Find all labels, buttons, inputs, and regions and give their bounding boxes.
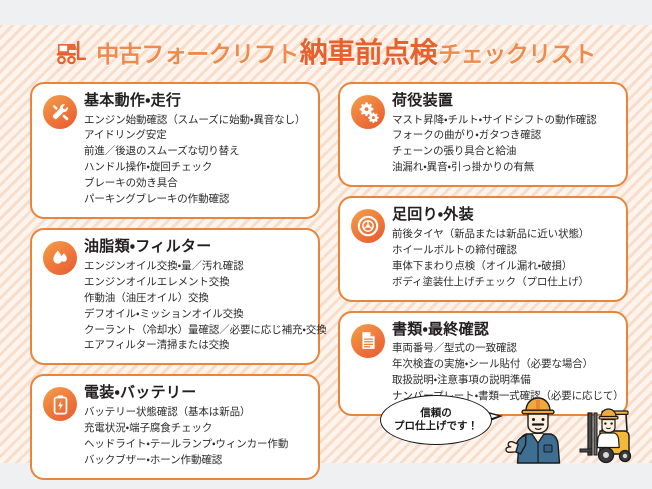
list-item: クーラント（冷却水）量確認／必要に応じ補充・交換 xyxy=(84,323,308,339)
list-item: アイドリング安定 xyxy=(84,128,308,144)
card-undercarriage-body: 足回り・外装 前後タイヤ（新品または新品に近い状態） ホイールボルトの締付確認 … xyxy=(338,196,628,301)
list-item: 車両番号／型式の一致確認 xyxy=(392,341,616,357)
card-body: 荷役装置 マスト昇降・チルト・サイドシフトの動作確認 フォークの曲がり・ガタつき… xyxy=(392,93,616,176)
page-title: 中古フォークリフト 納車前点検 チェックリスト xyxy=(96,39,596,67)
list-item: 充電状況・端子腐食チェック xyxy=(84,421,308,437)
card-title: 足回り・外装 xyxy=(392,207,616,224)
worker-thumbsup-icon xyxy=(506,398,560,463)
list-item: 前後タイヤ（新品または新品に近い状態） xyxy=(392,227,616,243)
battery-icon xyxy=(43,387,77,421)
list-item: エンジン始動確認（スムーズに始動・異音なし） xyxy=(84,113,308,129)
list-item: 前進／後退のスムーズな切り替え xyxy=(84,144,308,160)
list-item: デフオイル・ミッションオイル交換 xyxy=(84,307,308,323)
list-item: エアフィルター清掃または交換 xyxy=(84,338,308,354)
card-item-list: エンジン始動確認（スムーズに始動・異音なし） アイドリング安定 前進／後退のスム… xyxy=(84,113,308,209)
document-icon xyxy=(351,324,385,358)
card-item-list: バッテリー状態確認（基本は新品） 充電状況・端子腐食チェック ヘッドライト・テー… xyxy=(84,405,308,469)
list-item: 取扱説明・注意事項の説明準備 xyxy=(392,373,616,389)
card-item-list: 前後タイヤ（新品または新品に近い状態） ホイールボルトの締付確認 車体下まわり点… xyxy=(392,227,616,291)
wrench-screwdriver-icon xyxy=(43,95,77,129)
tire-wheel-icon xyxy=(351,209,385,243)
list-item: 油漏れ・異音・引っ掛かりの有無 xyxy=(392,160,616,176)
speech-bubble-line2: プロ仕上げです！ xyxy=(394,420,478,433)
speech-bubble: 信頼の プロ仕上げです！ xyxy=(380,395,492,445)
list-item: パーキングブレーキの作動確認 xyxy=(84,192,308,208)
page-title-part2: 納車前点検 xyxy=(300,39,438,67)
list-item: フォークの曲がり・ガタつき確認 xyxy=(392,128,616,144)
card-title: 基本動作・走行 xyxy=(84,93,308,110)
gears-icon xyxy=(351,95,385,129)
list-item: バックブザー・ホーン作動確認 xyxy=(84,453,308,469)
list-item: バッテリー状態確認（基本は新品） xyxy=(84,405,308,421)
list-item: ボディ塗装仕上げチェック（プロ仕上げ） xyxy=(392,275,616,291)
background-top xyxy=(0,0,652,25)
forklift-mascot-icon xyxy=(580,409,631,463)
list-item: エンジンオイルエレメント交換 xyxy=(84,275,308,291)
card-title: 油脂類・フィルター xyxy=(84,239,308,256)
card-body: 油脂類・フィルター エンジンオイル交換・量／汚れ確認 エンジンオイルエレメント交… xyxy=(84,239,308,354)
card-body: 基本動作・走行 エンジン始動確認（スムーズに始動・異音なし） アイドリング安定 … xyxy=(84,93,308,208)
card-fluids-filters: 油脂類・フィルター エンジンオイル交換・量／汚れ確認 エンジンオイルエレメント交… xyxy=(30,228,320,365)
list-item: チェーンの張り具合と給油 xyxy=(392,144,616,160)
list-item: ヘッドライト・テールランプ・ウィンカー作動 xyxy=(84,437,308,453)
speech-bubble-line1: 信頼の xyxy=(420,407,452,420)
list-item: ブレーキの効き具合 xyxy=(84,176,308,192)
page-title-part3: チェックリスト xyxy=(438,43,596,66)
page-title-part1: 中古フォークリフト xyxy=(96,43,299,66)
infographic-canvas: 中古フォークリフト 納車前点検 チェックリスト 基本動作・走行 エンジン始動確認… xyxy=(0,0,652,489)
right-column: 荷役装置 マスト昇降・チルト・サイドシフトの動作確認 フォークの曲がり・ガタつき… xyxy=(338,82,628,425)
left-column: 基本動作・走行 エンジン始動確認（スムーズに始動・異音なし） アイドリング安定 … xyxy=(30,82,320,489)
card-electrical-battery: 電装・バッテリー バッテリー状態確認（基本は新品） 充電状況・端子腐食チェック … xyxy=(30,374,320,479)
list-item: ホイールボルトの締付確認 xyxy=(392,243,616,259)
card-basic-operation: 基本動作・走行 エンジン始動確認（スムーズに始動・異音なし） アイドリング安定 … xyxy=(30,82,320,219)
mascot-figures xyxy=(502,393,642,465)
list-item: 年次検査の実施・シール貼付（必要な場合） xyxy=(392,357,616,373)
card-load-handling: 荷役装置 マスト昇降・チルト・サイドシフトの動作確認 フォークの曲がり・ガタつき… xyxy=(338,82,628,187)
card-title: 電装・バッテリー xyxy=(84,385,308,402)
list-item: エンジンオイル交換・量／汚れ確認 xyxy=(84,259,308,275)
card-item-list: マスト昇降・チルト・サイドシフトの動作確認 フォークの曲がり・ガタつき確認 チェ… xyxy=(392,113,616,177)
card-body: 電装・バッテリー バッテリー状態確認（基本は新品） 充電状況・端子腐食チェック … xyxy=(84,385,308,468)
mascot-area: 信頼の プロ仕上げです！ xyxy=(380,393,642,465)
forklift-icon xyxy=(56,40,90,66)
list-item: ハンドル操作・旋回チェック xyxy=(84,160,308,176)
oil-droplet-icon xyxy=(43,241,77,275)
card-title: 荷役装置 xyxy=(392,93,616,110)
card-title: 書類・最終確認 xyxy=(392,322,616,339)
list-item: 作動油（油圧オイル）交換 xyxy=(84,291,308,307)
card-item-list: エンジンオイル交換・量／汚れ確認 エンジンオイルエレメント交換 作動油（油圧オイ… xyxy=(84,259,308,355)
page-header: 中古フォークリフト 納車前点検 チェックリスト xyxy=(0,33,652,73)
list-item: マスト昇降・チルト・サイドシフトの動作確認 xyxy=(392,113,616,129)
list-item: 車体下まわり点検（オイル漏れ・破損） xyxy=(392,259,616,275)
card-body: 足回り・外装 前後タイヤ（新品または新品に近い状態） ホイールボルトの締付確認 … xyxy=(392,207,616,290)
